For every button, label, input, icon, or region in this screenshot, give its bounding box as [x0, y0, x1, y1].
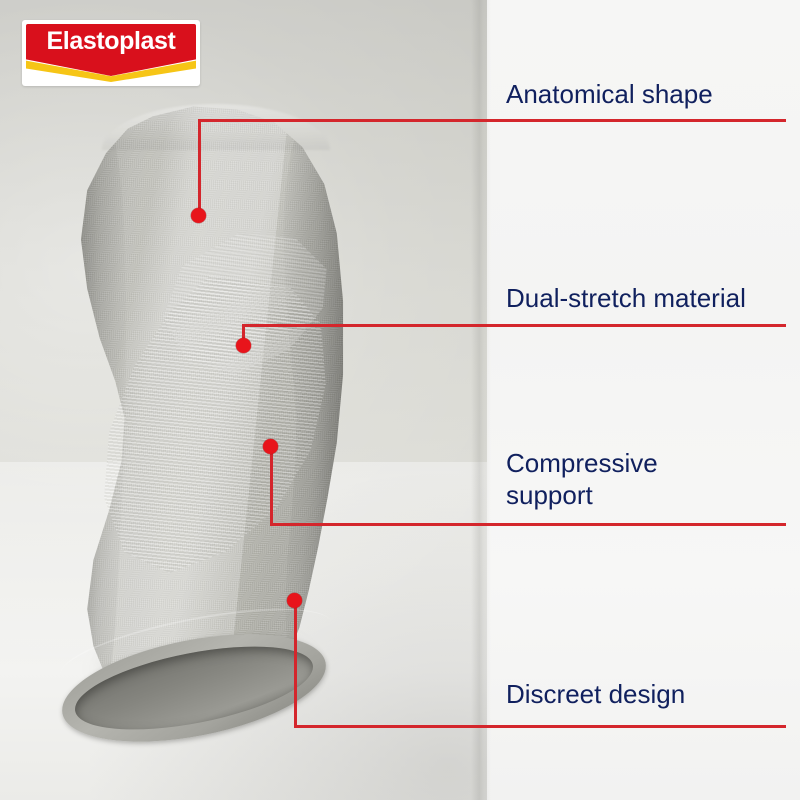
callout-dot-discreet-design[interactable]: [287, 593, 302, 608]
callout-label-discreet-design: Discreet design: [506, 678, 685, 710]
callout-label-compressive-support: Compressive support: [506, 447, 658, 511]
callout-label-anatomical-shape: Anatomical shape: [506, 78, 713, 110]
callout-dot-dual-stretch-material[interactable]: [236, 338, 251, 353]
leader-line-discreet-design-vertical: [294, 604, 297, 728]
leader-line-discreet-design-horizontal: [294, 725, 786, 728]
callout-label-dual-stretch-material: Dual-stretch material: [506, 282, 746, 314]
knee-support-sleeve: [56, 104, 368, 720]
leader-line-compressive-support-horizontal: [270, 523, 786, 526]
leader-line-anatomical-shape-horizontal: [198, 119, 786, 122]
leader-line-anatomical-shape-vertical: [198, 119, 201, 217]
leader-line-dual-stretch-material-horizontal: [242, 324, 786, 327]
callout-dot-compressive-support[interactable]: [263, 439, 278, 454]
elastoplast-logo: Elastoplast: [22, 20, 200, 86]
logo-wordmark: Elastoplast: [22, 27, 200, 56]
infographic-canvas: Elastoplast Anatomical shape Dual-stretc…: [0, 0, 800, 800]
callout-dot-anatomical-shape[interactable]: [191, 208, 206, 223]
sleeve-top-cuff: [102, 104, 330, 150]
leader-line-compressive-support-vertical: [270, 449, 273, 526]
